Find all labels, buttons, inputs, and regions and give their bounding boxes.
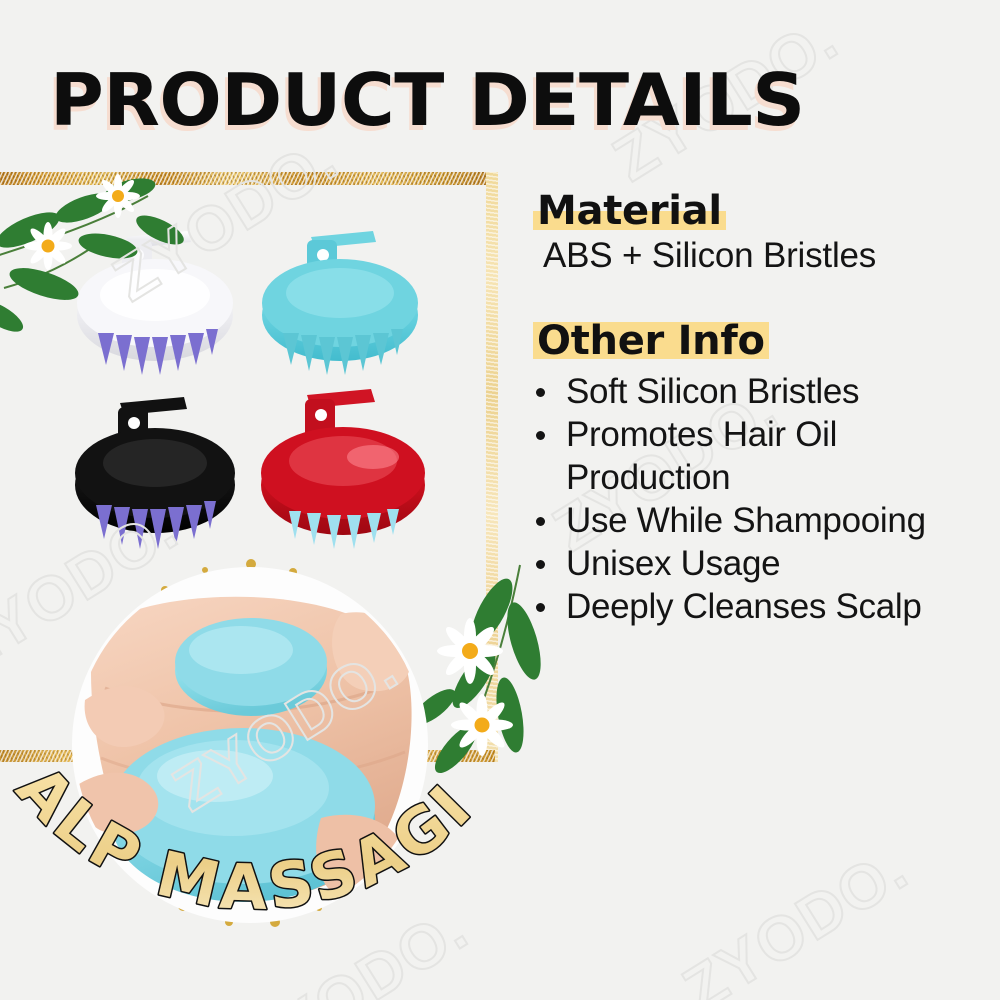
watermark-text: ZYODO. [671, 833, 920, 1000]
black-brush [60, 393, 250, 558]
material-heading: Material [533, 190, 726, 232]
list-item: Promotes Hair Oil [533, 413, 1000, 456]
other-info-list: Soft Silicon Bristles Promotes Hair Oil … [533, 370, 1000, 628]
list-item-text: Promotes Hair Oil [566, 415, 837, 454]
list-item: Use While Shampooing [533, 499, 1000, 542]
other-info-section: Other Info Soft Silicon Bristles Promote… [533, 320, 1000, 628]
material-value: ABS + Silicon Bristles [543, 236, 1000, 276]
gold-frame-right [486, 172, 498, 762]
list-item-text: Production [566, 458, 730, 497]
list-item-text: Unisex Usage [566, 544, 780, 583]
other-info-heading-text: Other Info [537, 318, 765, 364]
material-section: Material ABS + Silicon Bristles [533, 190, 1000, 276]
list-item: Soft Silicon Bristles [533, 370, 1000, 413]
infographic-canvas: ZYODO. ZYODO. ZYODO. ZYODO. ZYODO. ZYODO… [0, 0, 1000, 1000]
caption-text: SCALP MASSAGING [0, 740, 488, 924]
page-title: PRODUCT DETAILS [50, 58, 805, 142]
list-item-text: Deeply Cleanses Scalp [566, 587, 922, 626]
svg-text:SCALP MASSAGING: SCALP MASSAGING [0, 740, 488, 924]
product-brush-group [55, 225, 455, 565]
other-info-heading: Other Info [533, 320, 769, 362]
scalp-massaging-caption: SCALP MASSAGING [0, 740, 510, 1000]
list-item-continuation: Production [533, 456, 1000, 499]
material-heading-text: Material [537, 188, 722, 234]
spec-column: Material ABS + Silicon Bristles Other In… [533, 190, 1000, 628]
list-item-text: Use While Shampooing [566, 501, 926, 540]
list-item-text: Soft Silicon Bristles [566, 372, 859, 411]
white-brush [60, 225, 250, 385]
list-item: Deeply Cleanses Scalp [533, 585, 1000, 628]
cyan-brush [245, 225, 435, 385]
red-brush [245, 387, 440, 557]
gold-frame-top [0, 172, 495, 185]
list-item: Unisex Usage [533, 542, 1000, 585]
